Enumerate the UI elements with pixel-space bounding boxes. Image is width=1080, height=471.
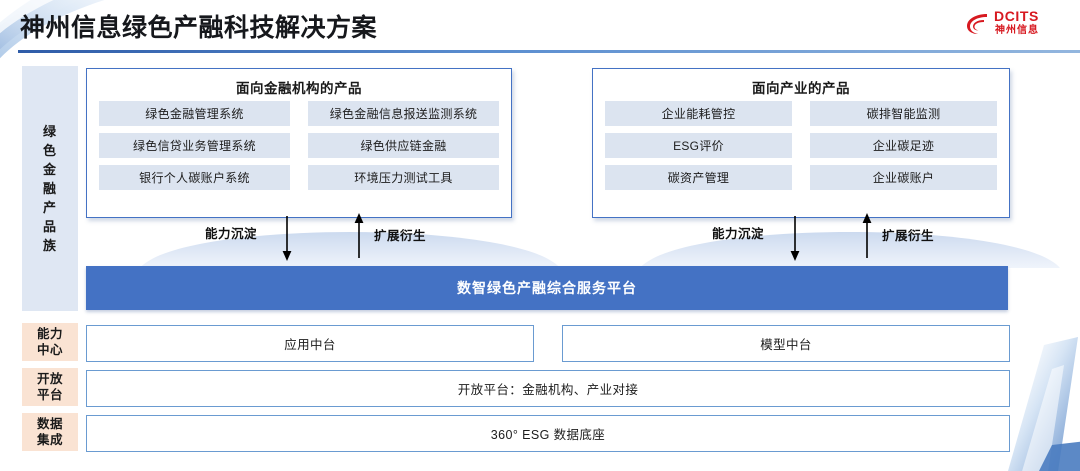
arrow-down-right-icon [788,216,802,262]
layer-box-esg-data-foundation[interactable]: 360° ESG 数据底座 [86,415,1010,452]
product-chip[interactable]: 环境压力测试工具 [308,165,499,190]
chip-grid-industry: 企业能耗管控 碳排智能监测 ESG评价 企业碳足迹 碳资产管理 企业碳账户 [605,101,997,190]
product-chip[interactable]: 碳资产管理 [605,165,792,190]
header-divider [18,50,1080,53]
layer-box-application-middle-platform[interactable]: 应用中台 [86,325,534,362]
product-chip[interactable]: 绿色信贷业务管理系统 [99,133,290,158]
product-chip[interactable]: 绿色金融管理系统 [99,101,290,126]
product-chip[interactable]: 绿色金融信息报送监测系统 [308,101,499,126]
flow-label-up-left: 扩展衍生 [374,225,426,244]
rail-item-data-integration-label: 数据集成 [37,416,63,448]
brand-logo: DCITS 神州信息 [964,8,1072,42]
panel-title-industry: 面向产业的产品 [593,77,1009,97]
slide-canvas: 神州信息绿色产融科技解决方案 DCITS 神州信息 绿色金融产品族 能力中心 开… [0,0,1080,471]
flow-label-down-right: 能力沉淀 [712,223,764,242]
flow-label-up-right: 扩展衍生 [882,225,934,244]
rail-item-open-platform[interactable]: 开放平台 [22,368,78,406]
product-chip[interactable]: 碳排智能监测 [810,101,997,126]
arrow-up-left-icon [352,212,366,258]
panel-financial-institutions: 面向金融机构的产品 绿色金融管理系统 绿色金融信息报送监测系统 绿色信贷业务管理… [86,68,512,218]
product-chip[interactable]: 企业碳账户 [810,165,997,190]
logo-text-en: DCITS [994,9,1039,23]
product-chip[interactable]: ESG评价 [605,133,792,158]
rail-green-finance-family: 绿色金融产品族 [22,66,78,311]
product-chip[interactable]: 企业碳足迹 [810,133,997,158]
product-chip[interactable]: 绿色供应链金融 [308,133,499,158]
platform-bar-label: 数智绿色产融综合服务平台 [457,278,637,298]
arc-right [640,216,1060,268]
panel-title-financial-institutions: 面向金融机构的产品 [87,77,511,97]
slide-header: 神州信息绿色产融科技解决方案 DCITS 神州信息 [0,0,1080,54]
chip-grid-financial-institutions: 绿色金融管理系统 绿色金融信息报送监测系统 绿色信贷业务管理系统 绿色供应链金融… [99,101,499,190]
logo-text-cn: 神州信息 [995,25,1039,36]
platform-bar[interactable]: 数智绿色产融综合服务平台 [86,266,1008,310]
rail-item-capability-center[interactable]: 能力中心 [22,323,78,361]
rail-item-data-integration[interactable]: 数据集成 [22,413,78,451]
arc-left [140,216,560,268]
layer-box-open-platform[interactable]: 开放平台：金融机构、产业对接 [86,370,1010,407]
layer-box-model-middle-platform[interactable]: 模型中台 [562,325,1010,362]
flow-label-down-left: 能力沉淀 [205,223,257,242]
arrow-down-left-icon [280,216,294,262]
rail-item-open-platform-label: 开放平台 [37,371,63,403]
rail-item-capability-center-label: 能力中心 [37,326,63,358]
panel-industry: 面向产业的产品 企业能耗管控 碳排智能监测 ESG评价 企业碳足迹 碳资产管理 … [592,68,1010,218]
rail-green-finance-label: 绿色金融产品族 [37,122,63,255]
product-chip[interactable]: 企业能耗管控 [605,101,792,126]
page-title: 神州信息绿色产融科技解决方案 [20,8,377,44]
product-chip[interactable]: 银行个人碳账户系统 [99,165,290,190]
arrow-up-right-icon [860,212,874,258]
dcits-mark-icon [964,12,990,36]
